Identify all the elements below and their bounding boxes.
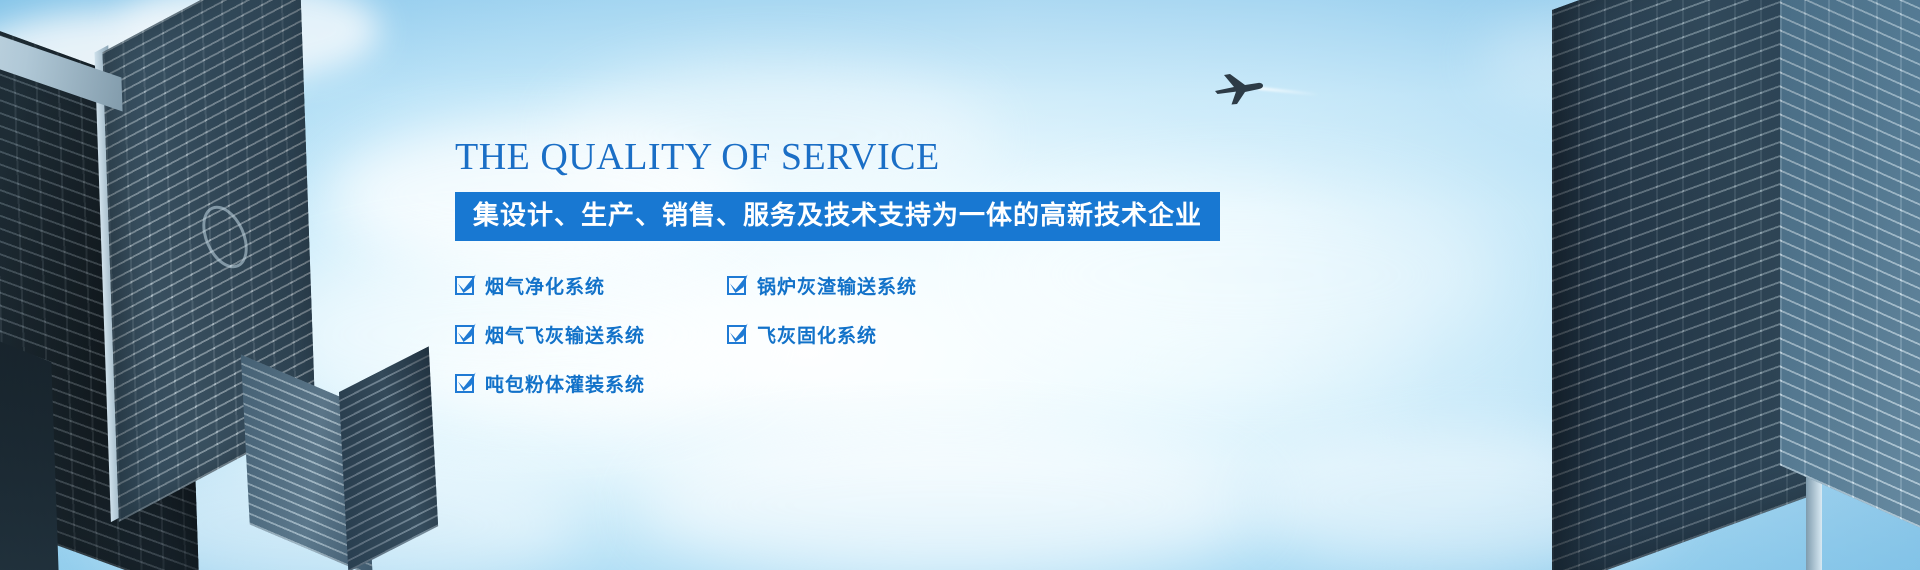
checkbox-checked-icon: [727, 325, 746, 344]
skyscraper-right-image: [1420, 0, 1920, 570]
list-item[interactable]: 锅炉灰渣输送系统: [727, 272, 1215, 299]
building-facade-dark: [1552, 0, 1812, 570]
subtitle-bar: 集设计、生产、销售、服务及技术支持为一体的高新技术企业: [455, 192, 1220, 241]
checkbox-checked-icon: [455, 374, 474, 393]
list-item[interactable]: 烟气飞灰输送系统: [455, 321, 727, 348]
checkbox-checked-icon: [455, 276, 474, 295]
skyscraper-left-small-image: [243, 393, 442, 570]
list-item[interactable]: 吨包粉体灌装系统: [455, 370, 727, 397]
cloud-shape: [640, 430, 1260, 570]
list-item-label: 烟气飞灰输送系统: [485, 321, 645, 348]
list-item-label: 锅炉灰渣输送系统: [757, 272, 917, 299]
page-title: THE QUALITY OF SERVICE: [455, 138, 1215, 176]
banner-content: THE QUALITY OF SERVICE 集设计、生产、销售、服务及技术支持…: [455, 138, 1215, 397]
list-item[interactable]: 飞灰固化系统: [727, 321, 1215, 348]
list-item[interactable]: 烟气净化系统: [455, 272, 727, 299]
list-item-label: 烟气净化系统: [485, 272, 605, 299]
checkbox-checked-icon: [455, 325, 474, 344]
hero-banner: THE QUALITY OF SERVICE 集设计、生产、销售、服务及技术支持…: [0, 0, 1920, 570]
subtitle-bar-label: 集设计、生产、销售、服务及技术支持为一体的高新技术企业: [473, 200, 1202, 230]
feature-list: 烟气净化系统 锅炉灰渣输送系统 烟气飞灰输送系统: [455, 272, 1215, 397]
list-item-label: 吨包粉体灌装系统: [485, 370, 645, 397]
checkbox-checked-icon: [727, 276, 746, 295]
airplane-icon: [1212, 72, 1264, 106]
list-item-label: 飞灰固化系统: [757, 321, 877, 348]
